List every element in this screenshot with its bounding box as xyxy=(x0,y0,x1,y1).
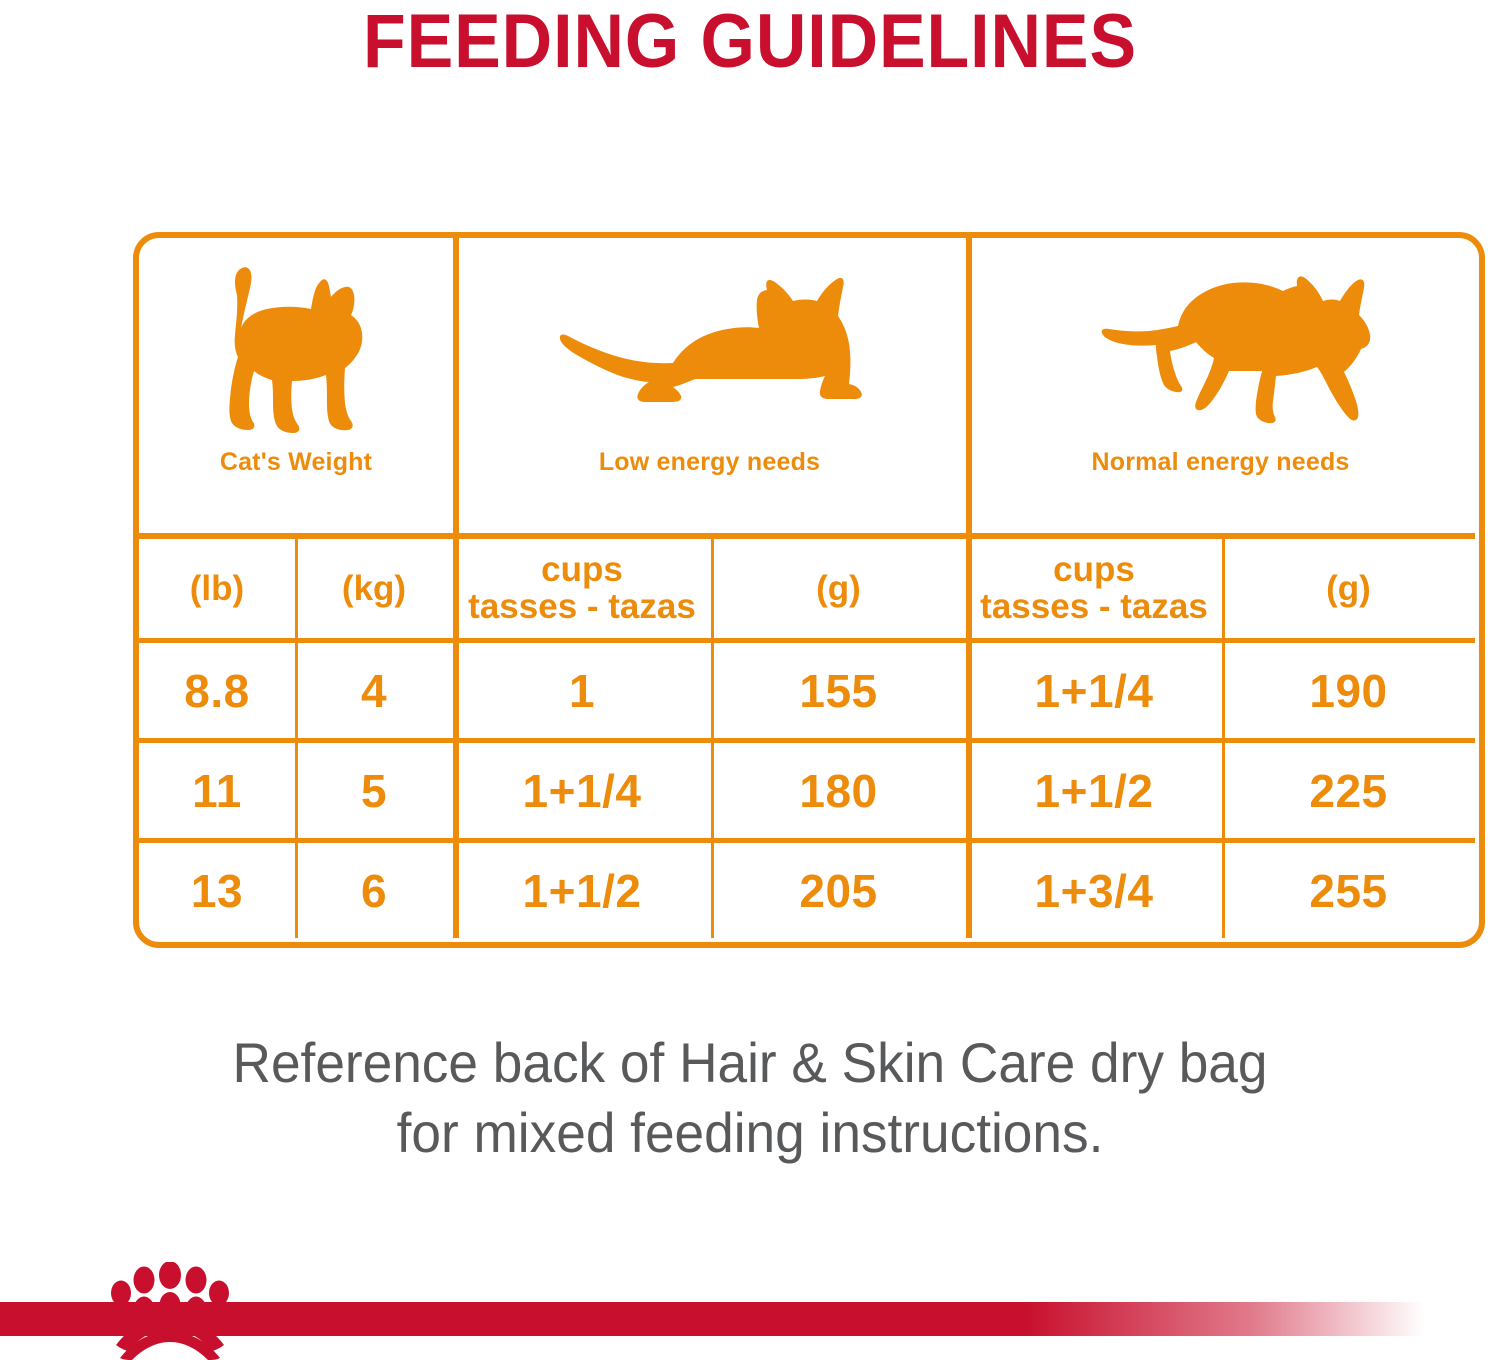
unit-cups-line1: cups xyxy=(1053,550,1135,589)
cell-value: 4 xyxy=(361,664,387,718)
table-row: 13 xyxy=(139,838,295,938)
unit-cups-line2: tasses - tazas xyxy=(468,588,696,626)
column-header-low-cups: cups tasses - tazas xyxy=(453,533,711,638)
footer-note-line2: for mixed feeding instructions. xyxy=(38,1098,1463,1168)
unit-label: (kg) xyxy=(342,571,406,607)
lying-cat-icon xyxy=(453,256,966,448)
cell-value: 13 xyxy=(191,864,243,918)
table-row: 1 xyxy=(453,638,711,738)
table-row: 205 xyxy=(711,838,966,938)
cell-value: 190 xyxy=(1309,664,1387,718)
page-title: FEEDING GUIDELINES xyxy=(60,0,1440,86)
footer-note: Reference back of Hair & Skin Care dry b… xyxy=(38,1028,1463,1168)
cell-value: 1+1/2 xyxy=(523,864,642,918)
table-row: 180 xyxy=(711,738,966,838)
cell-value: 205 xyxy=(799,864,877,918)
table-row: 1+1/4 xyxy=(453,738,711,838)
cell-value: 6 xyxy=(361,864,387,918)
cell-value: 1 xyxy=(569,664,595,718)
cell-value: 1+1/4 xyxy=(1035,664,1154,718)
unit-label: (lb) xyxy=(190,571,244,607)
table-row: 11 xyxy=(139,738,295,838)
table-row: 1+1/2 xyxy=(966,738,1222,838)
table-row: 255 xyxy=(1222,838,1475,938)
table-row: 225 xyxy=(1222,738,1475,838)
table-row: 155 xyxy=(711,638,966,738)
group-header-label: Normal energy needs xyxy=(1091,448,1349,533)
cell-value: 11 xyxy=(192,764,242,818)
column-header-normal-grams: (g) xyxy=(1222,533,1475,638)
column-header-kg: (kg) xyxy=(295,533,453,638)
walking-cat-icon xyxy=(966,256,1475,448)
group-header-label: Cat's Weight xyxy=(220,448,372,533)
table-row: 1+3/4 xyxy=(966,838,1222,938)
cell-value: 5 xyxy=(361,764,387,818)
unit-label: (g) xyxy=(1326,571,1371,607)
unit-label: cups tasses - tazas xyxy=(980,552,1208,626)
cell-value: 225 xyxy=(1309,764,1387,818)
column-header-normal-cups: cups tasses - tazas xyxy=(966,533,1222,638)
feeding-guidelines-table: Cat's Weight Low energy needs Normal ene… xyxy=(133,232,1485,948)
cell-value: 1+1/2 xyxy=(1035,764,1154,818)
cell-value: 1+3/4 xyxy=(1035,864,1154,918)
table-row: 6 xyxy=(295,838,453,938)
standing-cat-icon xyxy=(139,256,453,448)
cell-value: 8.8 xyxy=(184,664,249,718)
table-row: 5 xyxy=(295,738,453,838)
cell-value: 155 xyxy=(799,664,877,718)
feeding-guidelines-page: FEEDING GUIDELINES Cat's Weight Low xyxy=(0,0,1500,1360)
royal-canin-crown-logo xyxy=(100,1262,240,1360)
table-row: 4 xyxy=(295,638,453,738)
table-row: 190 xyxy=(1222,638,1475,738)
unit-cups-line2: tasses - tazas xyxy=(980,588,1208,626)
group-header-normal-energy: Normal energy needs xyxy=(966,238,1475,533)
group-header-label: Low energy needs xyxy=(599,448,820,533)
table-row: 8.8 xyxy=(139,638,295,738)
column-header-low-grams: (g) xyxy=(711,533,966,638)
unit-label: (g) xyxy=(816,571,861,607)
cell-value: 180 xyxy=(799,764,877,818)
table-row: 1+1/4 xyxy=(966,638,1222,738)
column-header-lb: (lb) xyxy=(139,533,295,638)
group-header-low-energy: Low energy needs xyxy=(453,238,966,533)
cell-value: 255 xyxy=(1309,864,1387,918)
table-row: 1+1/2 xyxy=(453,838,711,938)
unit-cups-line1: cups xyxy=(541,550,623,589)
cell-value: 1+1/4 xyxy=(523,764,642,818)
group-header-cats-weight: Cat's Weight xyxy=(139,238,453,533)
unit-label: cups tasses - tazas xyxy=(468,552,696,626)
footer-note-line1: Reference back of Hair & Skin Care dry b… xyxy=(38,1028,1463,1098)
